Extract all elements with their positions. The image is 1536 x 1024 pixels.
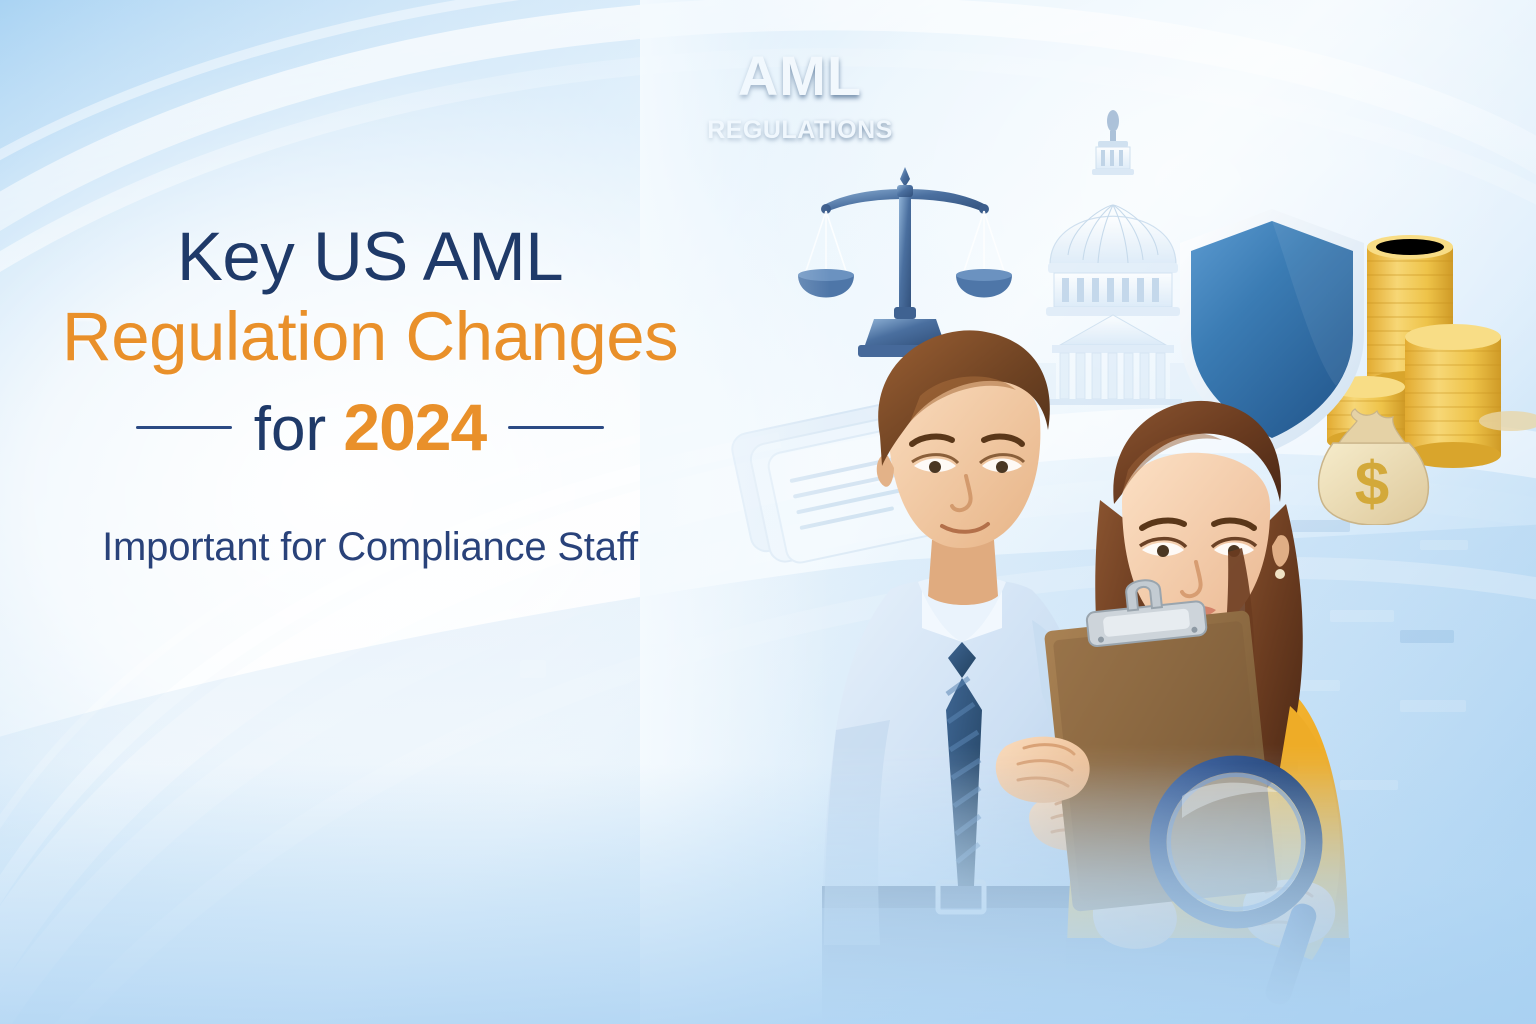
male-left-hand (996, 737, 1090, 803)
headline-block: Key US AML Regulation Changes for 2024 I… (0, 218, 740, 570)
shield-text-group: AML REGULATIONS (700, 48, 900, 145)
rule-right (508, 426, 604, 429)
year-prefix: for (254, 395, 326, 464)
year-value: 2024 (343, 390, 486, 464)
subtitle: Important for Compliance Staff (0, 525, 740, 570)
rule-left (136, 426, 232, 429)
illustration-group: AML REGULATIONS (700, 0, 1536, 1024)
compliance-officers-illustration (770, 290, 1470, 1024)
headline-line-1: Key US AML (0, 218, 740, 295)
year-label: for 2024 (254, 389, 486, 465)
headline-line-2: Regulation Changes (0, 295, 740, 379)
shield-title: AML (700, 48, 900, 104)
aml-banner: AML REGULATIONS (0, 0, 1536, 1024)
year-row: for 2024 (0, 389, 740, 465)
shield-subtitle: REGULATIONS (700, 116, 900, 145)
